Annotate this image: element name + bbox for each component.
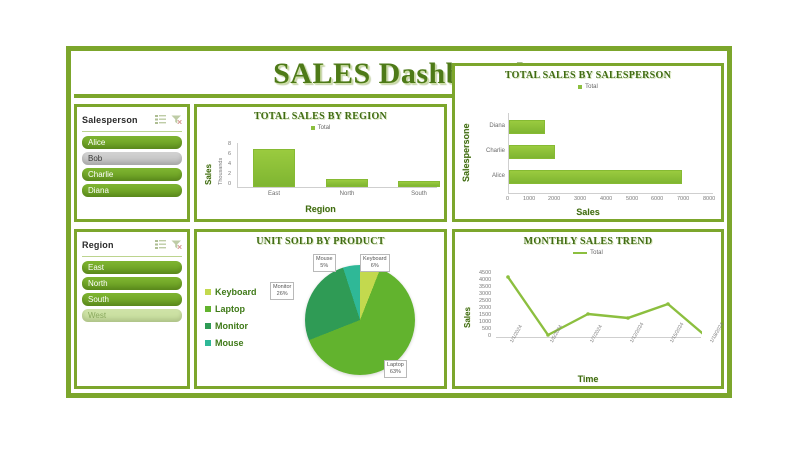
pie-chart[interactable] — [305, 265, 415, 375]
pie-callout-monitor: Monitor 26% — [270, 282, 294, 300]
bar-charlie[interactable] — [509, 145, 555, 159]
slicer-region-header: Region — [82, 236, 182, 257]
callout-label: Keyboard — [363, 256, 387, 262]
chart-title: MONTHLY SALES TREND — [455, 236, 721, 247]
legend-swatch-icon — [205, 306, 211, 312]
slicer-region-items: East North South West — [82, 261, 182, 322]
x-tick-3000: 3000 — [574, 196, 586, 202]
x-tick-7000: 7000 — [677, 196, 689, 202]
legend-item-mouse[interactable]: Mouse — [205, 338, 257, 348]
y-tick-6: 6 — [228, 151, 231, 157]
y-tick-3000: 3000 — [479, 291, 491, 297]
legend-label: Keyboard — [215, 287, 257, 297]
slicer-salesperson-title: Salesperson — [82, 115, 138, 125]
slicer-item-west[interactable]: West — [82, 309, 182, 322]
y-tick-0: 0 — [488, 333, 491, 339]
slicer-salesperson-icons — [155, 111, 182, 129]
slicer-item-bob[interactable]: Bob — [82, 152, 182, 165]
y-axis-title: Sales — [463, 280, 472, 328]
multi-select-icon[interactable] — [155, 111, 166, 129]
legend-swatch-icon — [205, 340, 211, 346]
callout-label: Laptop — [387, 362, 404, 368]
x-axis-line — [508, 193, 713, 194]
legend-item-monitor[interactable]: Monitor — [205, 321, 257, 331]
y-cat-diana: Diana — [477, 123, 505, 129]
pie-callout-keyboard: Keyboard 6% — [360, 254, 390, 272]
bar-east[interactable] — [253, 149, 295, 187]
y-axis-title: Salespersone — [461, 114, 471, 182]
slicer-item-north[interactable]: North — [82, 277, 182, 290]
legend-swatch-icon — [205, 289, 211, 295]
legend-swatch-icon — [205, 323, 211, 329]
y-tick-2500: 2500 — [479, 298, 491, 304]
chart-title: TOTAL SALES BY SALESPERSON — [455, 70, 721, 81]
y-cat-alice: Alice — [477, 173, 505, 179]
legend-swatch-icon — [578, 85, 582, 89]
y-tick-500: 500 — [482, 326, 491, 332]
x-tick-0: 0 — [506, 196, 509, 202]
callout-label: Mouse — [316, 256, 333, 262]
legend-label: Total — [590, 250, 603, 256]
y-tick-2000: 2000 — [479, 305, 491, 311]
callout-percent: 6% — [371, 263, 379, 269]
y-tick-4000: 4000 — [479, 277, 491, 283]
legend-label: Total — [318, 125, 331, 131]
slicer-item-charlie[interactable]: Charlie — [82, 168, 182, 181]
x-axis-title: Region — [197, 204, 444, 214]
x-tick-5000: 5000 — [626, 196, 638, 202]
callout-percent: 26% — [277, 291, 288, 297]
chart-unit-sold-by-product[interactable]: UNIT SOLD BY PRODUCT Keyboard Laptop Mon… — [194, 229, 447, 389]
chart-legend: Total — [197, 125, 444, 131]
dashboard-canvas: SALES Dashboard Salesperson Alice Bob Ch… — [0, 0, 800, 460]
clear-filter-icon[interactable] — [171, 236, 182, 254]
y-axis-line — [237, 143, 238, 187]
x-tick-2000: 2000 — [548, 196, 560, 202]
slicer-region-title: Region — [82, 240, 114, 250]
legend-label: Monitor — [215, 321, 248, 331]
y-tick-1000: 1000 — [479, 319, 491, 325]
legend-item-laptop[interactable]: Laptop — [205, 304, 257, 314]
chart-title: UNIT SOLD BY PRODUCT — [197, 236, 444, 247]
bar-south[interactable] — [398, 181, 440, 187]
x-axis-title: Time — [455, 374, 721, 384]
slicer-region[interactable]: Region East North South West — [74, 229, 190, 389]
legend-line-icon — [573, 252, 587, 254]
y-tick-8: 8 — [228, 141, 231, 147]
pie-callout-laptop: Laptop 63% — [384, 360, 407, 378]
x-tick-1000: 1000 — [523, 196, 535, 202]
legend-label: Total — [585, 84, 598, 90]
y-axis-unit: Thousands — [218, 139, 224, 185]
y-axis-title: Sales — [204, 141, 213, 185]
y-tick-4: 4 — [228, 161, 231, 167]
x-cat-east: East — [253, 191, 295, 197]
bar-diana[interactable] — [509, 120, 545, 134]
slicer-item-south[interactable]: South — [82, 293, 182, 306]
x-cat-south: South — [398, 191, 440, 197]
y-tick-0: 0 — [228, 181, 231, 187]
slicer-salesperson[interactable]: Salesperson Alice Bob Charlie Diana — [74, 104, 190, 222]
slicer-region-icons — [155, 236, 182, 254]
chart-sales-by-salesperson[interactable]: TOTAL SALES BY SALESPERSON Total Salespe… — [452, 63, 724, 222]
callout-percent: 5% — [320, 263, 328, 269]
slicer-salesperson-items: Alice Bob Charlie Diana — [82, 136, 182, 197]
bar-alice[interactable] — [509, 170, 682, 184]
x-cat-north: North — [326, 191, 368, 197]
slicer-salesperson-header: Salesperson — [82, 111, 182, 132]
multi-select-icon[interactable] — [155, 236, 166, 254]
legend-label: Laptop — [215, 304, 245, 314]
chart-sales-by-region[interactable]: TOTAL SALES BY REGION Total Sales Thousa… — [194, 104, 447, 222]
x-date-6: 1/18/2024 — [709, 322, 725, 344]
legend-swatch-icon — [311, 126, 315, 130]
callout-label: Monitor — [273, 284, 291, 290]
y-tick-3500: 3500 — [479, 284, 491, 290]
pie-callout-mouse: Mouse 5% — [313, 254, 336, 272]
legend-item-keyboard[interactable]: Keyboard — [205, 287, 257, 297]
callout-percent: 63% — [390, 369, 401, 375]
pie-legend: Keyboard Laptop Monitor Mouse — [205, 287, 257, 348]
bar-north[interactable] — [326, 179, 368, 187]
x-axis-title: Sales — [455, 207, 721, 217]
y-tick-4500: 4500 — [479, 270, 491, 276]
slicer-item-alice[interactable]: Alice — [82, 136, 182, 149]
slicer-item-east[interactable]: East — [82, 261, 182, 274]
x-tick-8000: 8000 — [703, 196, 715, 202]
chart-legend: Total — [455, 250, 721, 256]
y-tick-2: 2 — [228, 171, 231, 177]
chart-monthly-sales-trend[interactable]: MONTHLY SALES TREND Total Sales 4500 400… — [452, 229, 724, 389]
y-cat-charlie: Charlie — [477, 148, 505, 154]
chart-title: TOTAL SALES BY REGION — [197, 111, 444, 122]
chart-legend: Total — [455, 84, 721, 90]
x-axis-line — [237, 187, 437, 188]
x-tick-6000: 6000 — [651, 196, 663, 202]
legend-label: Mouse — [215, 338, 244, 348]
x-tick-4000: 4000 — [600, 196, 612, 202]
clear-filter-icon[interactable] — [171, 111, 182, 129]
slicer-item-diana[interactable]: Diana — [82, 184, 182, 197]
y-tick-1500: 1500 — [479, 312, 491, 318]
